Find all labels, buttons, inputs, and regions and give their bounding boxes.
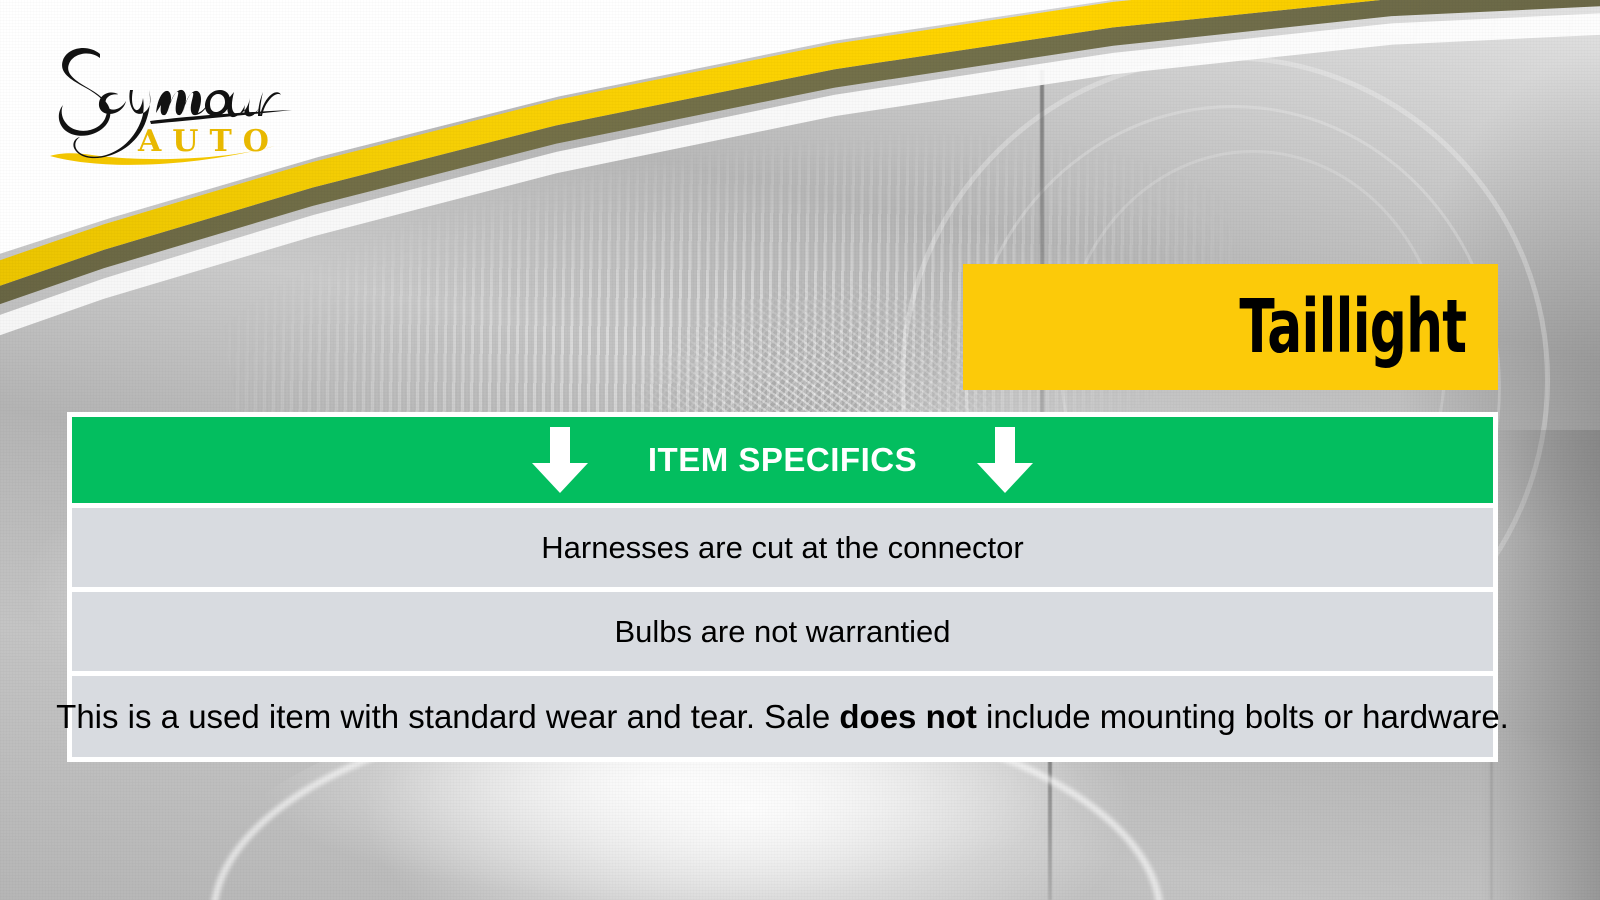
product-title-banner: Taillight bbox=[963, 264, 1498, 390]
item-specifics-label: ITEM SPECIFICS bbox=[648, 441, 917, 479]
logo-script-m bbox=[156, 90, 209, 115]
slide-canvas: AUTO Taillight ITEM SPECIFICS Harnesses … bbox=[0, 0, 1600, 900]
logo-script-eymour bbox=[99, 92, 126, 114]
item-specifics-header: ITEM SPECIFICS bbox=[72, 417, 1493, 503]
spec-row-emphasis: does not bbox=[839, 698, 977, 735]
spec-row-text: Harnesses are cut at the connector bbox=[541, 530, 1023, 566]
item-specifics-table: ITEM SPECIFICS Harnesses are cut at the … bbox=[67, 412, 1498, 762]
table-row: Bulbs are not warrantied bbox=[72, 587, 1493, 671]
arrow-down-icon bbox=[532, 427, 588, 493]
product-title-text: Taillight bbox=[1239, 290, 1466, 364]
spec-row-text: This is a used item with standard wear a… bbox=[56, 698, 1509, 736]
spec-row-text: Bulbs are not warrantied bbox=[614, 614, 950, 650]
spec-row-suffix: include mounting bolts or hardware. bbox=[977, 698, 1509, 735]
arrow-down-icon bbox=[977, 427, 1033, 493]
seymour-auto-logo: AUTO bbox=[30, 20, 330, 175]
logo-script-s bbox=[59, 48, 111, 136]
table-row: Harnesses are cut at the connector bbox=[72, 503, 1493, 587]
spec-row-prefix: This is a used item with standard wear a… bbox=[56, 698, 839, 735]
logo-script-o bbox=[205, 90, 230, 116]
logo-auto-text: AUTO bbox=[137, 124, 280, 159]
table-row: This is a used item with standard wear a… bbox=[72, 671, 1493, 757]
